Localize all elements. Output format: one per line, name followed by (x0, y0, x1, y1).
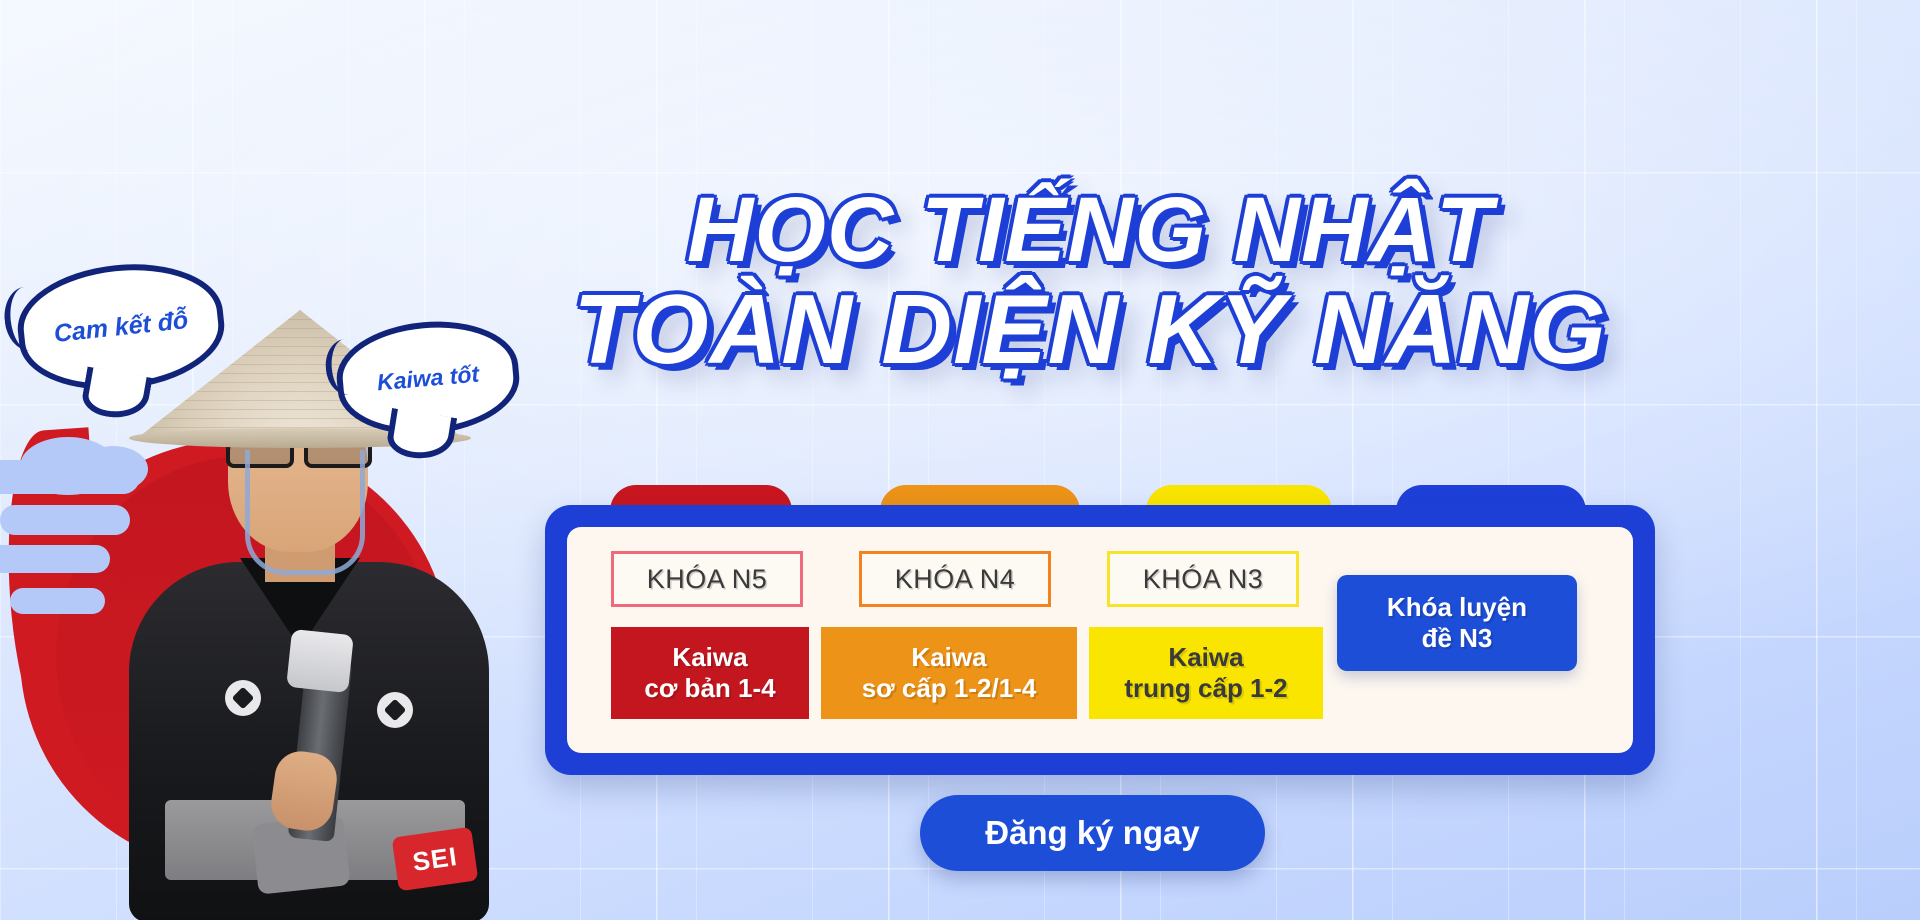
course-button-row: Kaiwa cơ bản 1-4 Kaiwa sơ cấp 1-2/1-4 Ka… (567, 627, 1633, 727)
course-button-line2: sơ cấp 1-2/1-4 (862, 673, 1037, 704)
robe-crest-icon (225, 680, 261, 716)
banner-stage: SEI Cam kết đỗ Kaiwa tốt HỌC TIẾNG NHẬT … (0, 0, 1920, 920)
course-button-line1: Kaiwa (911, 642, 986, 673)
badge-cam-ket-do-label: Cam kết đỗ (52, 306, 189, 349)
page-title-line1: HỌC TIẾNG NHẬT (560, 185, 1620, 275)
level-badge-n3-label: KHÓA N3 (1143, 564, 1264, 595)
level-badge-n5[interactable]: KHÓA N5 (611, 551, 803, 607)
level-badge-n5-label: KHÓA N5 (647, 564, 768, 595)
course-button-kaiwa-trung-cap[interactable]: Kaiwa trung cấp 1-2 (1089, 627, 1323, 719)
course-card-panel: KHÓA N5 KHÓA N4 KHÓA N3 Kaiwa cơ bản 1-4… (567, 527, 1633, 753)
page-title: HỌC TIẾNG NHẬT TOÀN DIỆN KỸ NĂNG (560, 185, 1620, 377)
course-button-line1: Kaiwa (672, 642, 747, 673)
cloud-decoration (10, 588, 105, 614)
course-button-line1: Kaiwa (1168, 642, 1243, 673)
course-card: KHÓA N5 KHÓA N4 KHÓA N3 Kaiwa cơ bản 1-4… (545, 505, 1655, 775)
hat-chinstrap (245, 450, 365, 575)
course-button-luyen-de-n3[interactable]: Khóa luyện đề N3 (1337, 575, 1577, 671)
cloud-decoration (0, 545, 110, 573)
page-title-line2: TOÀN DIỆN KỸ NĂNG (560, 281, 1620, 377)
course-button-line2: đề N3 (1422, 623, 1493, 654)
level-badge-n4[interactable]: KHÓA N4 (859, 551, 1051, 607)
level-badge-n4-label: KHÓA N4 (895, 564, 1016, 595)
robe-crest-icon (377, 692, 413, 728)
course-button-line2: cơ bản 1-4 (644, 673, 775, 704)
brand-badge: SEI (392, 827, 479, 892)
level-badge-n3[interactable]: KHÓA N3 (1107, 551, 1299, 607)
course-button-line1: Khóa luyện (1387, 592, 1527, 623)
course-button-kaiwa-co-ban[interactable]: Kaiwa cơ bản 1-4 (611, 627, 809, 719)
microphone-head (286, 629, 354, 693)
course-button-line2: trung cấp 1-2 (1124, 673, 1287, 704)
course-button-kaiwa-so-cap[interactable]: Kaiwa sơ cấp 1-2/1-4 (821, 627, 1077, 719)
register-button[interactable]: Đăng ký ngay (920, 795, 1265, 871)
badge-kaiwa-tot-label: Kaiwa tốt (376, 360, 480, 396)
